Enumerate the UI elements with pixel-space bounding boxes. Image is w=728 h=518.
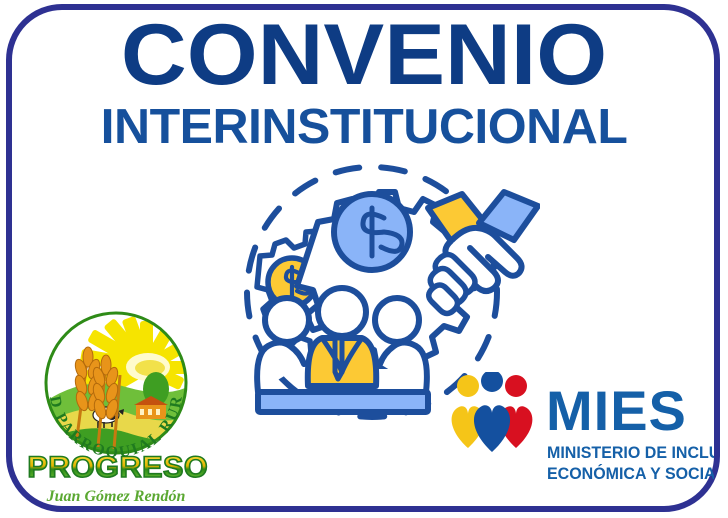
gad-parroquial-rural-progreso-logo: GAD PARROQUIAL RURAL PROGRESO Juan Gómez… [28, 305, 208, 510]
gad-progreso-text: PROGRESO [28, 451, 208, 484]
title-line-convenio: CONVENIO [0, 16, 728, 95]
people-at-table [257, 288, 428, 412]
handshake-icon [428, 192, 538, 314]
mies-subtitle-line2: ECONÓMICA Y SOCIAL [547, 464, 714, 483]
mies-wordmark: MIES [546, 379, 687, 442]
page-title: CONVENIO INTERINSTITUCIONAL [0, 16, 728, 152]
mies-subtitle-line1: MINISTERIO DE INCLUSIÓN [547, 443, 714, 462]
mies-hearts-icon [452, 372, 533, 452]
mies-logo: MIES MINISTERIO DE INCLUSIÓN ECONÓMICA Y… [446, 372, 714, 494]
poster-canvas: CONVENIO INTERINSTITUCIONAL [0, 0, 728, 518]
title-line-interinstitucional: INTERINSTITUCIONAL [0, 103, 728, 152]
gad-script-text: Juan Gómez Rendón [46, 488, 186, 505]
